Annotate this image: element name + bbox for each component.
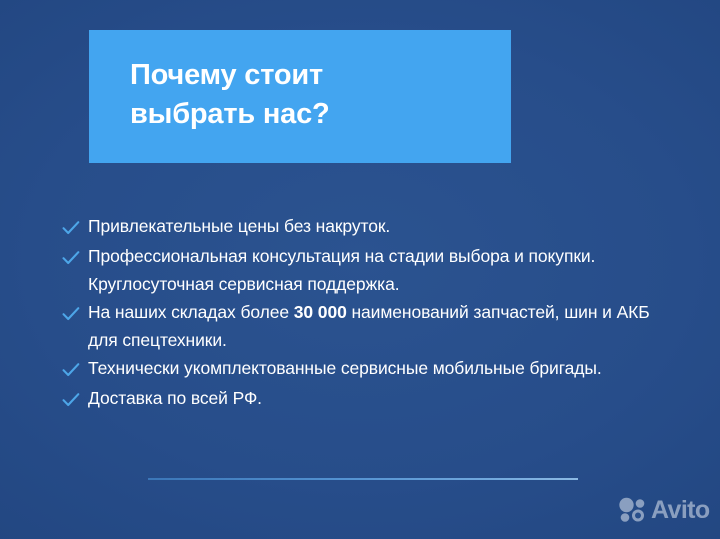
check-icon (62, 242, 88, 272)
page-title: Почему стоит выбрать нас? (130, 56, 501, 133)
check-icon (62, 212, 88, 242)
list-item-label: Привлекательные цены без накруток. (88, 212, 662, 240)
list-item: На наших складах более 30 000 наименован… (62, 298, 662, 354)
title-box: Почему стоит выбрать нас? (89, 30, 511, 163)
list-item: Доставка по всей РФ. (62, 384, 662, 414)
list-item-label: Профессиональная консультация на стадии … (88, 242, 662, 298)
avito-watermark: Avito (618, 497, 710, 523)
list-item: Технически укомплектованные сервисные мо… (62, 354, 662, 384)
list-item: Профессиональная консультация на стадии … (62, 242, 662, 298)
benefits-list: Привлекательные цены без накруток. Профе… (62, 212, 662, 414)
check-icon (62, 354, 88, 384)
check-icon (62, 298, 88, 328)
avito-logo-icon (618, 497, 648, 523)
list-item-label: Доставка по всей РФ. (88, 384, 662, 412)
slide-canvas: Почему стоит выбрать нас? Привлекательны… (0, 0, 720, 539)
avito-wordmark: Avito (651, 497, 710, 523)
list-item: Привлекательные цены без накруток. (62, 212, 662, 242)
list-item-label: На наших складах более 30 000 наименован… (88, 298, 662, 354)
divider (148, 478, 578, 480)
list-item-label: Технически укомплектованные сервисные мо… (88, 354, 662, 382)
check-icon (62, 384, 88, 414)
